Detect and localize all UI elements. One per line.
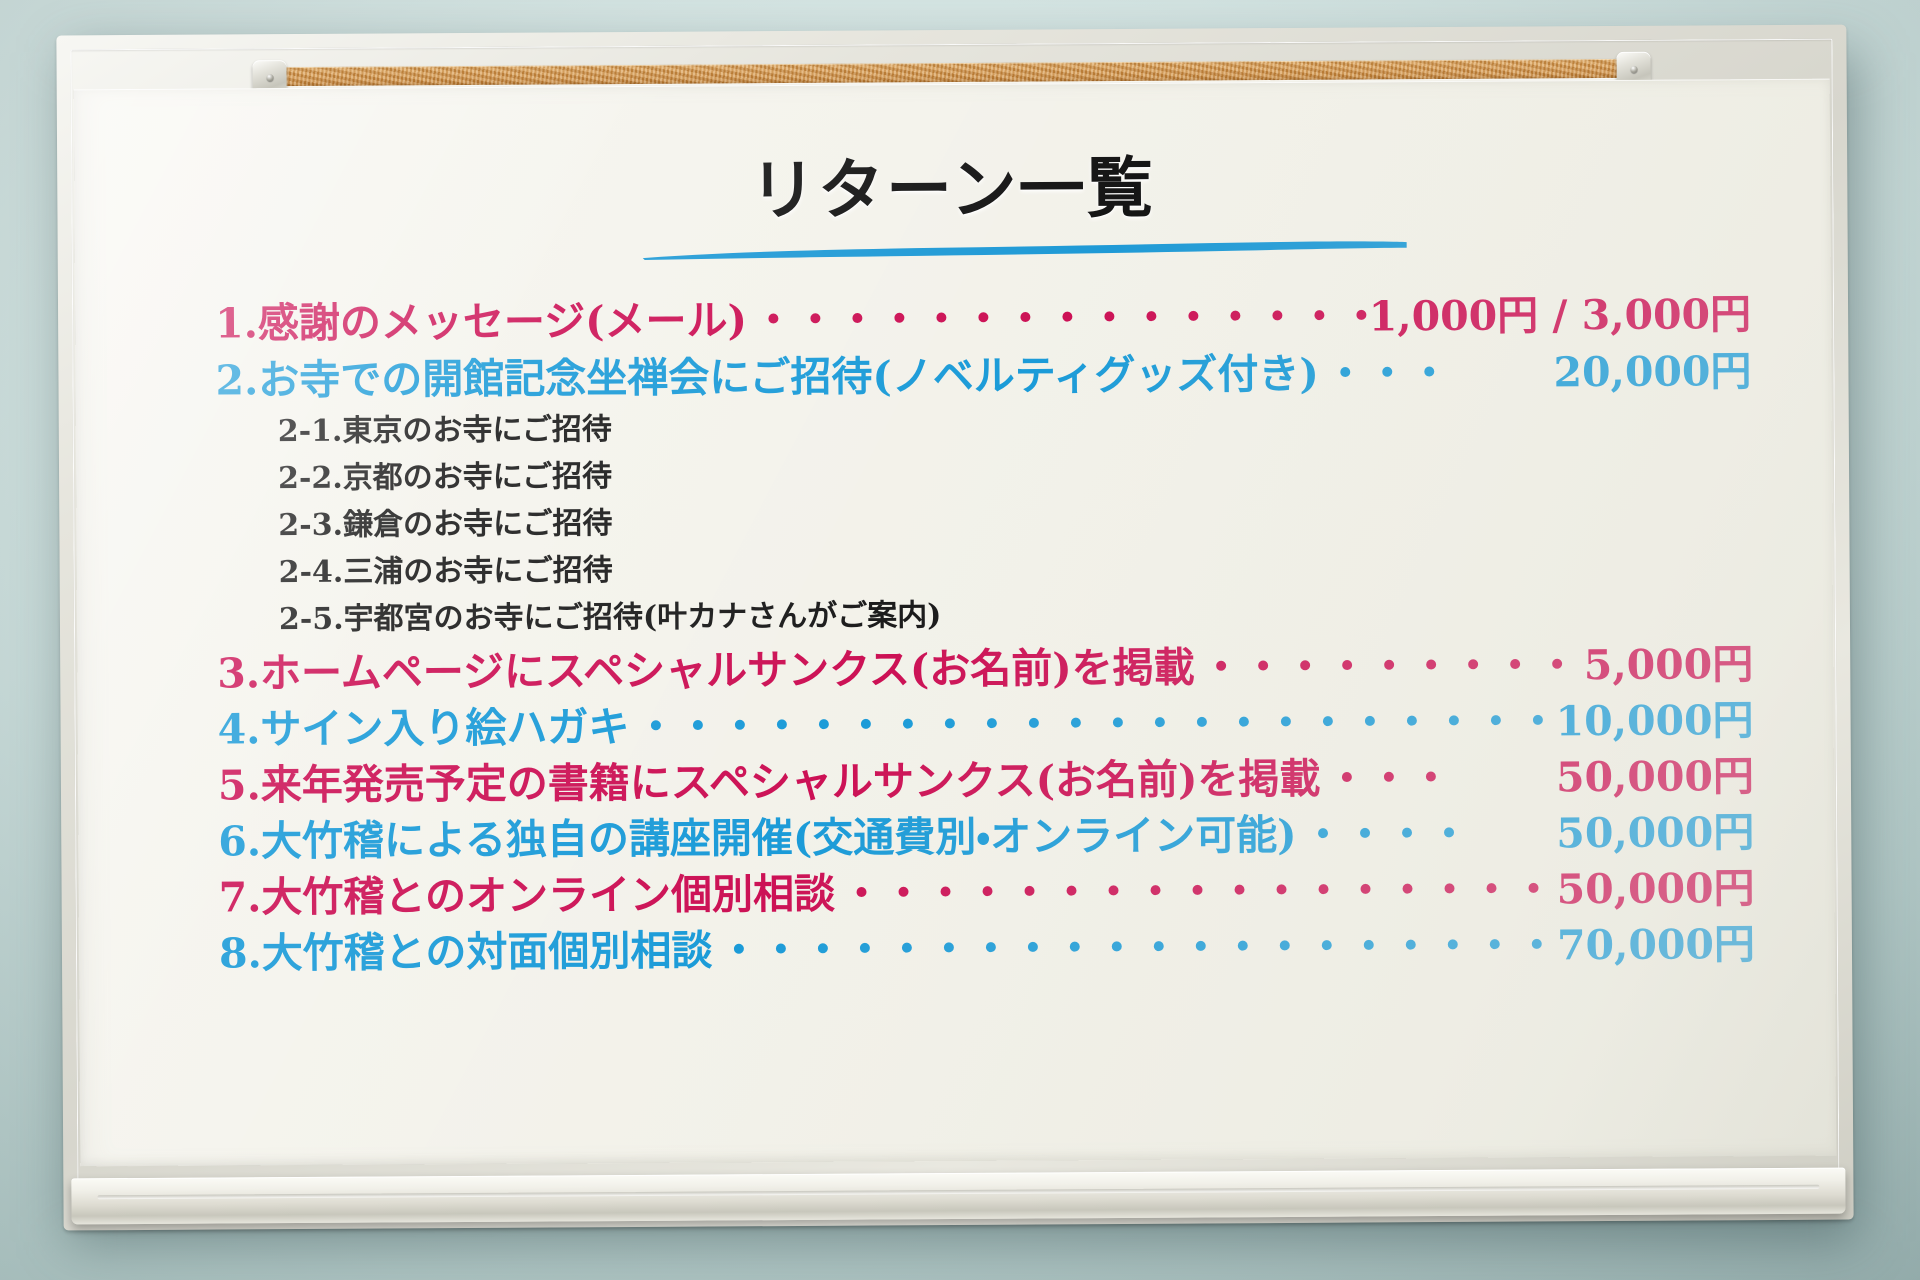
list-item-3-price: 5,000円 [1584,644,1754,686]
list-item-2-leader: ・・・ [1319,352,1554,394]
list-item-2-price: 20,000円 [1553,351,1751,393]
list-item-3: 3.ホームページにスペシャルサンクス(お名前)を掲載 ・・・・・・・・・ 5,0… [217,644,1753,694]
whiteboard-surface: リターン一覧 1.感謝のメッセージ(メール) ・・・・・・・・・・・・・・・・・… [74,79,1837,1167]
list-item-4-price: 10,000円 [1556,700,1754,742]
list-item-2: 2.お寺での開館記念坐禅会にご招待(ノベルティグッズ付き) ・・・ 20,000… [215,351,1751,401]
board-content: リターン一覧 1.感謝のメッセージ(メール) ・・・・・・・・・・・・・・・・・… [74,79,1837,1167]
list-item-7: 7.大竹稽とのオンライン個別相談 ・・・・・・・・・・・・・・・・・・・ 50,… [219,868,1755,918]
sub-list-item-2-2: 2-2.京都のお寺にご招待 [278,455,1752,494]
list-item-5-price: 50,000円 [1556,756,1754,798]
list-item-6-price: 50,000円 [1556,812,1754,854]
sub-list-item-2-3: 2-3.鎌倉のお寺にご招待 [278,502,1752,541]
list-item-8: 8.大竹稽との対面個別相談 ・・・・・・・・・・・・・・・・・・・・・ 70,0… [219,924,1755,974]
sub-list: 2-1.東京のお寺にご招待 2-2.京都のお寺にご招待 2-3.鎌倉のお寺にご招… [216,408,1753,635]
sub-list-item-2-4: 2-4.三浦のお寺にご招待 [279,549,1753,588]
list-item-7-price: 50,000円 [1557,868,1755,910]
list-item-4-label: 4.サイン入り絵ハガキ [217,707,629,751]
list-item-8-leader: ・・・・・・・・・・・・・・・・・・・・・ [712,925,1557,971]
list-item-1: 1.感謝のメッセージ(メール) ・・・・・・・・・・・・・・・・・・ 1,000… [215,294,1751,344]
list-item-5-leader: ・・・ [1320,757,1556,799]
list-item-8-label: 8.大竹稽との対面個別相談 [219,930,713,974]
title-underline-stroke [641,239,1411,261]
list-item-1-price: 1,000円 / 3,000円 [1369,294,1752,337]
list-item-6: 6.大竹稽による独自の講座開催(交通費別・オンライン可能) ・・・・ 50,00… [218,812,1754,862]
list-item-3-label: 3.ホームページにスペシャルサンクス(お名前)を掲載 [217,648,1195,695]
sub-list-item-2-1: 2-1.東京のお寺にご招待 [278,408,1752,447]
list-item-2-label: 2.お寺での開館記念坐禅会にご招待(ノベルティグッズ付き) [215,354,1319,402]
list-item-5: 5.来年発売予定の書籍にスペシャルサンクス(お名前)を掲載 ・・・ 50,000… [218,756,1754,806]
list-item-1-label: 1.感謝のメッセージ(メール) [215,300,747,344]
list-item-5-label: 5.来年発売予定の書籍にスペシャルサンクス(お名前)を掲載 [218,759,1321,807]
sub-list-item-2-5: 2-5.宇都宮のお寺にご招待(叶カナさんがご案内) [279,596,1753,635]
list-item-3-leader: ・・・・・・・・・ [1195,645,1584,688]
list-item-7-leader: ・・・・・・・・・・・・・・・・・・・ [835,869,1557,914]
list-item-4: 4.サイン入り絵ハガキ ・・・・・・・・・・・・・・・・・・・・・・・ 10,0… [217,700,1753,750]
whiteboard: リターン一覧 1.感謝のメッセージ(メール) ・・・・・・・・・・・・・・・・・… [56,25,1853,1231]
list-item-6-leader: ・・・・ [1296,813,1556,856]
list-item-7-label: 7.大竹稽とのオンライン個別相談 [219,874,836,919]
list-item-1-leader: ・・・・・・・・・・・・・・・・・・ [747,296,1369,341]
pen-tray-groove [97,1185,1819,1200]
list-item-6-label: 6.大竹稽による独自の講座開催(交通費別・オンライン可能) [218,815,1297,863]
list-item-8-price: 70,000円 [1557,924,1755,966]
page-title: リターン一覧 [74,131,1831,238]
list-item-4-leader: ・・・・・・・・・・・・・・・・・・・・・・・ [629,701,1555,748]
returns-list: 1.感謝のメッセージ(メール) ・・・・・・・・・・・・・・・・・・ 1,000… [215,294,1755,974]
